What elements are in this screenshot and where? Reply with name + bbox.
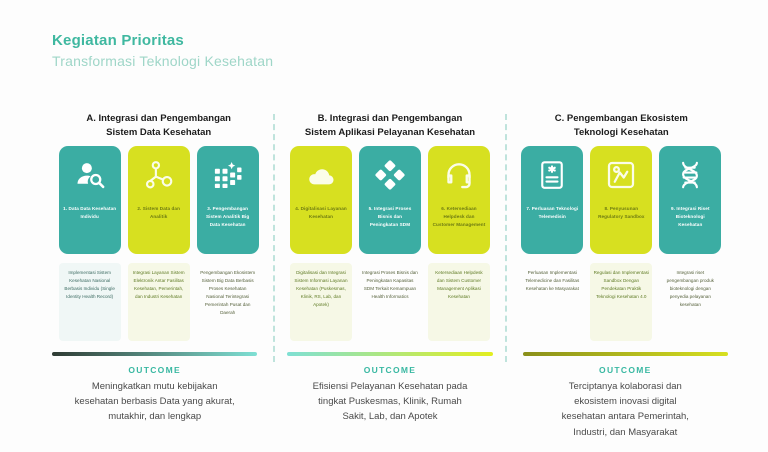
initiative-card-label: 1. Data Data Kesehatan Individu xyxy=(59,205,121,221)
initiative-card[interactable]: 9. Integrasi Riset Bioteknologi Kesehata… xyxy=(659,146,721,254)
initiative-card-label: 2. Sistem Data dan Analitik xyxy=(128,205,190,221)
card-row-a: 1. Data Data Kesehatan Individu2. Sistem… xyxy=(59,146,259,254)
card-row-b: 4. Digitalisasi Layanan Kesehatan5. Inte… xyxy=(290,146,490,254)
initiative-card-label: 7. Perluasan Teknologi Telemedisin xyxy=(521,205,583,221)
outcome-a: OUTCOMEMeningkatkan mutu kebijakan keseh… xyxy=(44,352,265,440)
initiative-card[interactable]: 7. Perluasan Teknologi Telemedisin xyxy=(521,146,583,254)
outcome-label: OUTCOME xyxy=(128,365,181,375)
initiative-card-label: 5. Integrasi Proses Bisnis dan Peningkat… xyxy=(359,205,421,228)
outcome-b: OUTCOMEEfisiensi Pelayanan Kesehatan pad… xyxy=(279,352,500,440)
infographic-page: Kegiatan Prioritas Transformasi Teknolog… xyxy=(0,0,768,452)
initiative-card[interactable]: 2. Sistem Data dan Analitik xyxy=(128,146,190,254)
initiative-card[interactable]: 8. Penyusunan Regulatory Sandbox xyxy=(590,146,652,254)
initiative-description: Implementasi Sistem Kesehatan Nasional B… xyxy=(59,263,121,341)
column-title-b: B. Integrasi dan Pengembangan Sistem Apl… xyxy=(305,112,475,146)
initiative-card-label: 9. Integrasi Riset Bioteknologi Kesehata… xyxy=(659,205,721,228)
initiative-card-label: 8. Penyusunan Regulatory Sandbox xyxy=(590,205,652,221)
initiative-card[interactable]: 3. Pengembangan Sistem Analitik Big Data… xyxy=(197,146,259,254)
person-search-icon xyxy=(73,158,107,192)
data-grid-icon xyxy=(211,158,245,192)
initiative-card[interactable]: 5. Integrasi Proses Bisnis dan Peningkat… xyxy=(359,146,421,254)
document-icon xyxy=(535,158,569,192)
cloud-icon xyxy=(304,158,338,192)
outcome-c: OUTCOMETerciptanya kolaborasi dan ekosis… xyxy=(515,352,736,440)
outcome-separator xyxy=(265,352,279,440)
page-subtitle: Transformasi Teknologi Kesehatan xyxy=(52,53,273,69)
outcome-bar xyxy=(287,352,492,356)
map-regulation-icon xyxy=(604,158,638,192)
headset-icon xyxy=(442,158,476,192)
outcome-bar xyxy=(523,352,728,356)
outcome-label: OUTCOME xyxy=(364,365,417,375)
initiative-description: Integrasi Layanan Sistem Elektronik Anta… xyxy=(128,263,190,341)
outcome-text: Terciptanya kolaborasi dan ekosistem ino… xyxy=(562,379,689,440)
initiative-description: Perluasan Implementasi Telemedicine dan … xyxy=(521,263,583,341)
column-title-c: C. Pengembangan Ekosistem Teknologi Kese… xyxy=(555,112,688,146)
initiative-description: Regulasi dan Implementasi Sandbox Dengan… xyxy=(590,263,652,341)
outcome-text: Meningkatkan mutu kebijakan kesehatan be… xyxy=(75,379,235,425)
description-row-c: Perluasan Implementasi Telemedicine dan … xyxy=(521,263,721,341)
header: Kegiatan Prioritas Transformasi Teknolog… xyxy=(52,32,273,69)
initiative-card[interactable]: 4. Digitalisasi Layanan Kesehatan xyxy=(290,146,352,254)
initiative-card-label: 3. Pengembangan Sistem Analitik Big Data… xyxy=(197,205,259,228)
diamond-cluster-icon xyxy=(373,158,407,192)
initiative-card-label: 4. Digitalisasi Layanan Kesehatan xyxy=(290,205,352,221)
outcome-separator xyxy=(501,352,515,440)
card-row-c: 7. Perluasan Teknologi Telemedisin8. Pen… xyxy=(521,146,721,254)
initiative-description: Integrasi Proses Bisnis dan Peningkatan … xyxy=(359,263,421,341)
dna-icon xyxy=(673,158,707,192)
initiative-description: Pengembangan Ekosistem Sistem Big Data B… xyxy=(197,263,259,341)
initiative-card[interactable]: 6. Ketersediaan Helpdesk dan Customer Ma… xyxy=(428,146,490,254)
outcomes-container: OUTCOMEMeningkatkan mutu kebijakan keseh… xyxy=(44,352,736,440)
description-row-b: Digitalisasi dan Integrasi Sistem Inform… xyxy=(290,263,490,341)
initiative-description: Ketersediaan Helpdesk dan Sistem Custome… xyxy=(428,263,490,341)
initiative-description: Integrasi riset pengembangan produk biot… xyxy=(659,263,721,341)
outcome-label: OUTCOME xyxy=(599,365,652,375)
outcome-bar xyxy=(52,352,257,356)
initiative-card-label: 6. Ketersediaan Helpdesk dan Customer Ma… xyxy=(428,205,490,228)
description-row-a: Implementasi Sistem Kesehatan Nasional B… xyxy=(59,263,259,341)
page-title: Kegiatan Prioritas xyxy=(52,32,273,49)
network-nodes-icon xyxy=(142,158,176,192)
initiative-description: Digitalisasi dan Integrasi Sistem Inform… xyxy=(290,263,352,341)
initiative-card[interactable]: 1. Data Data Kesehatan Individu xyxy=(59,146,121,254)
outcome-text: Efisiensi Pelayanan Kesehatan pada tingk… xyxy=(313,379,468,425)
column-title-a: A. Integrasi dan Pengembangan Sistem Dat… xyxy=(86,112,231,146)
